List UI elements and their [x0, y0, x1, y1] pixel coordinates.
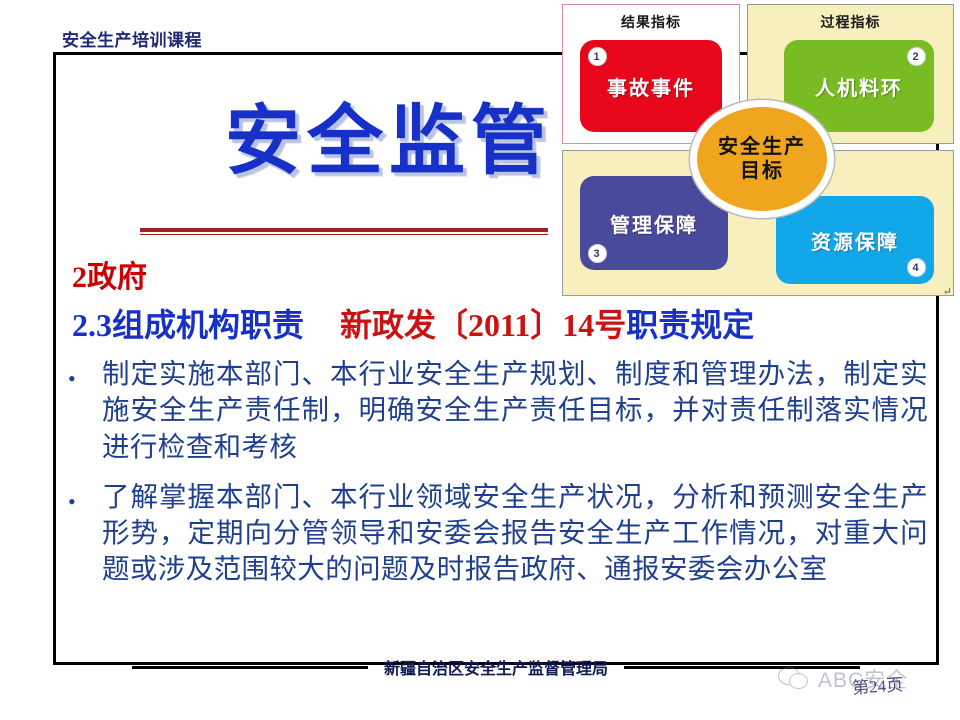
diagram-card-label-resource: 资源保障: [811, 226, 899, 255]
duty-regulation-label: 职责规定: [626, 307, 754, 343]
diagram-card-label-accident: 事故事件: [607, 72, 695, 101]
bullet-marker-icon: •: [68, 479, 102, 513]
wechat-icon: [778, 666, 812, 692]
slide-canvas: 安全生产培训课程 安全监管 2政府 2.3组成机构职责新政发〔2011〕14号职…: [0, 0, 960, 720]
subsection-heading: 2.3组成机构职责新政发〔2011〕14号职责规定: [72, 300, 754, 346]
bullet-text: 了解掌握本部门、本行业领域安全生产状况，分析和预测安全生产形势，定期向分管领导和…: [102, 479, 928, 588]
page-title: 安全监管: [225, 104, 553, 180]
list-item: • 了解掌握本部门、本行业领域安全生产状况，分析和预测安全生产形势，定期向分管领…: [68, 479, 928, 588]
diagram-card-label-manmachine: 人机料环: [815, 72, 903, 101]
course-label: 安全生产培训课程: [62, 26, 202, 51]
diagram-card-label-management: 管理保障: [610, 209, 698, 238]
center-goal-line2: 目标: [740, 159, 784, 183]
safety-target-diagram: 结果指标 过程指标 1 事故事件 2 人机料环 3 管理保障 4 资源保障 安全…: [562, 4, 954, 296]
wechat-bubble-small: [789, 673, 808, 689]
paragraph-mark-icon: ↵: [943, 285, 952, 298]
subsection-label: 2.3组成机构职责: [72, 307, 304, 343]
title-divider: [140, 228, 548, 235]
page-number: 第24页: [851, 670, 904, 698]
diagram-card-accident: 1 事故事件: [580, 40, 722, 132]
panel-label-process: 过程指标: [748, 12, 953, 32]
badge-number-3: 3: [588, 244, 607, 263]
footer-organization: 新疆自治区安全生产监督管理局: [368, 655, 624, 679]
center-goal-line1: 安全生产: [718, 135, 806, 159]
section-heading: 2政府: [72, 252, 147, 296]
bullet-list: • 制定实施本部门、本行业安全生产规划、制度和管理办法，制定实施安全生产责任制，…: [68, 356, 928, 602]
bullet-marker-icon: •: [68, 356, 102, 390]
badge-number-2: 2: [907, 47, 926, 66]
list-item: • 制定实施本部门、本行业安全生产规划、制度和管理办法，制定实施安全生产责任制，…: [68, 356, 928, 465]
footer-rule-left: [132, 666, 368, 669]
document-number: 新政发〔2011〕14号: [340, 307, 626, 343]
diagram-center-goal: 安全生产 目标: [690, 100, 834, 218]
badge-number-4: 4: [907, 258, 926, 277]
panel-label-result: 结果指标: [563, 12, 739, 32]
bullet-text: 制定实施本部门、本行业安全生产规划、制度和管理办法，制定实施安全生产责任制，明确…: [102, 356, 928, 465]
badge-number-1: 1: [588, 47, 607, 66]
